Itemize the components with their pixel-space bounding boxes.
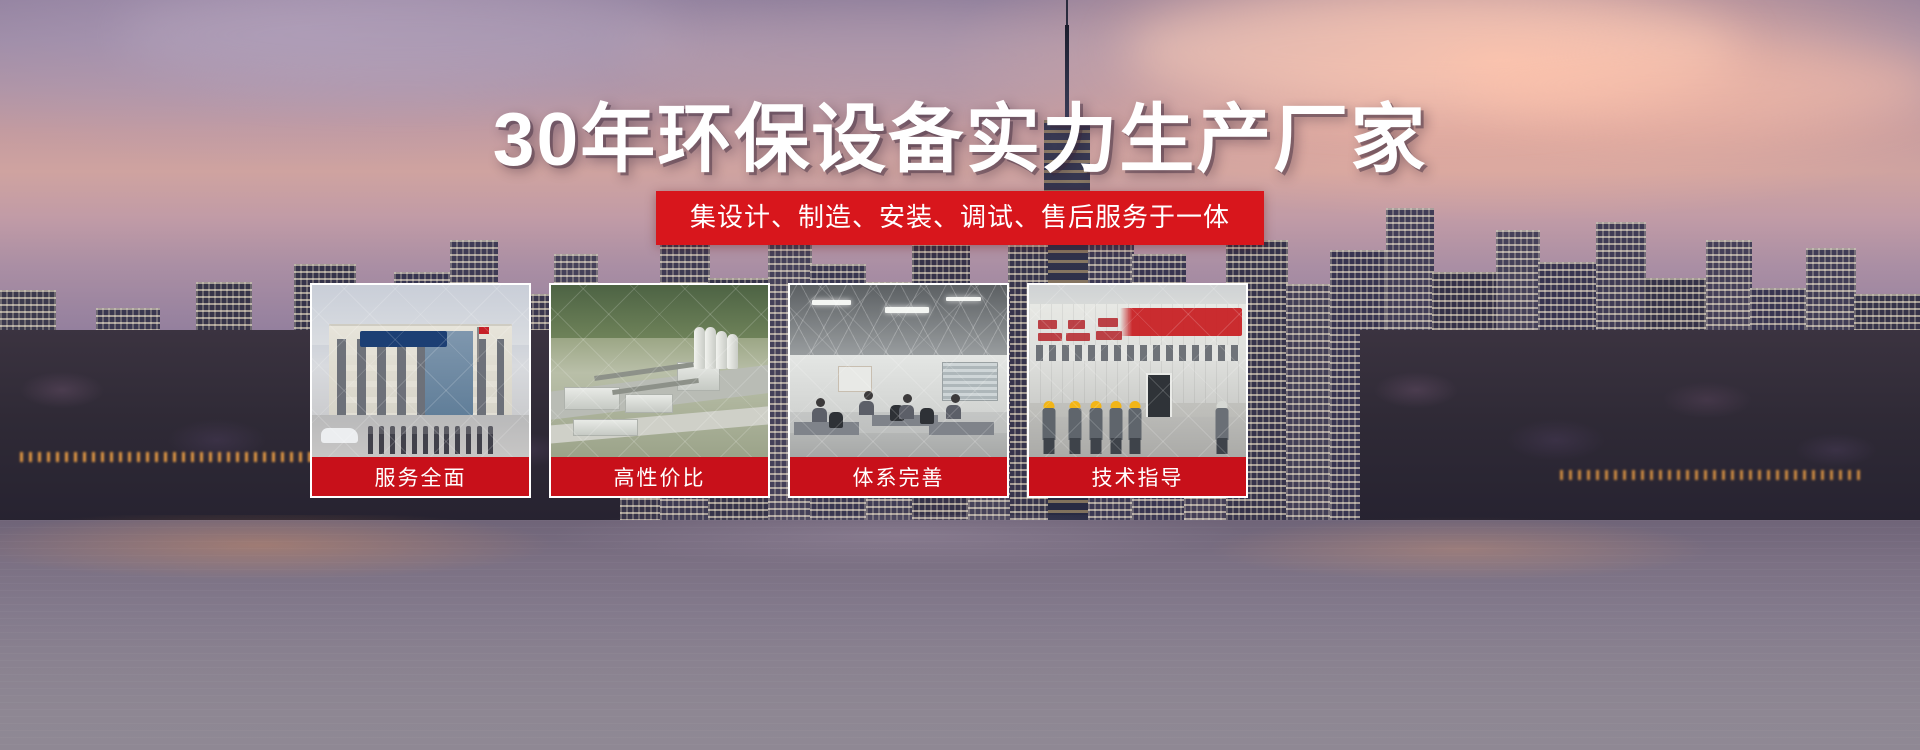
feature-card-2[interactable]: 高性价比 [549, 283, 770, 498]
feature-card-4[interactable]: 技术指导 [1027, 283, 1248, 498]
feature-card-1-photo [312, 285, 529, 461]
feature-card-3[interactable]: 体系完善 [788, 283, 1009, 498]
water-reflection-glow [0, 515, 1920, 635]
feature-card-2-label: 高性价比 [551, 457, 768, 496]
feature-card-4-photo [1029, 285, 1246, 461]
page-title: 30年环保设备实力生产厂家 [0, 96, 1920, 182]
feature-card-1-label: 服务全面 [312, 457, 529, 496]
factory-slogan-sign [1120, 308, 1242, 336]
feature-card-3-label: 体系完善 [790, 457, 1007, 496]
subtitle-container: 集设计、制造、安装、调试、售后服务于一体 [0, 191, 1920, 245]
left-shore-lights [20, 452, 350, 462]
company-sign [360, 331, 447, 347]
feature-card-2-photo [551, 285, 768, 461]
feature-card-row: 服务全面 [310, 283, 1560, 498]
feature-card-4-label: 技术指导 [1029, 457, 1246, 496]
subtitle-banner: 集设计、制造、安装、调试、售后服务于一体 [656, 191, 1264, 245]
feature-card-3-photo [790, 285, 1007, 461]
feature-card-1[interactable]: 服务全面 [310, 283, 531, 498]
right-shore-lights [1560, 470, 1860, 480]
hero-banner: 30年环保设备实力生产厂家 集设计、制造、安装、调试、售后服务于一体 [0, 0, 1920, 750]
